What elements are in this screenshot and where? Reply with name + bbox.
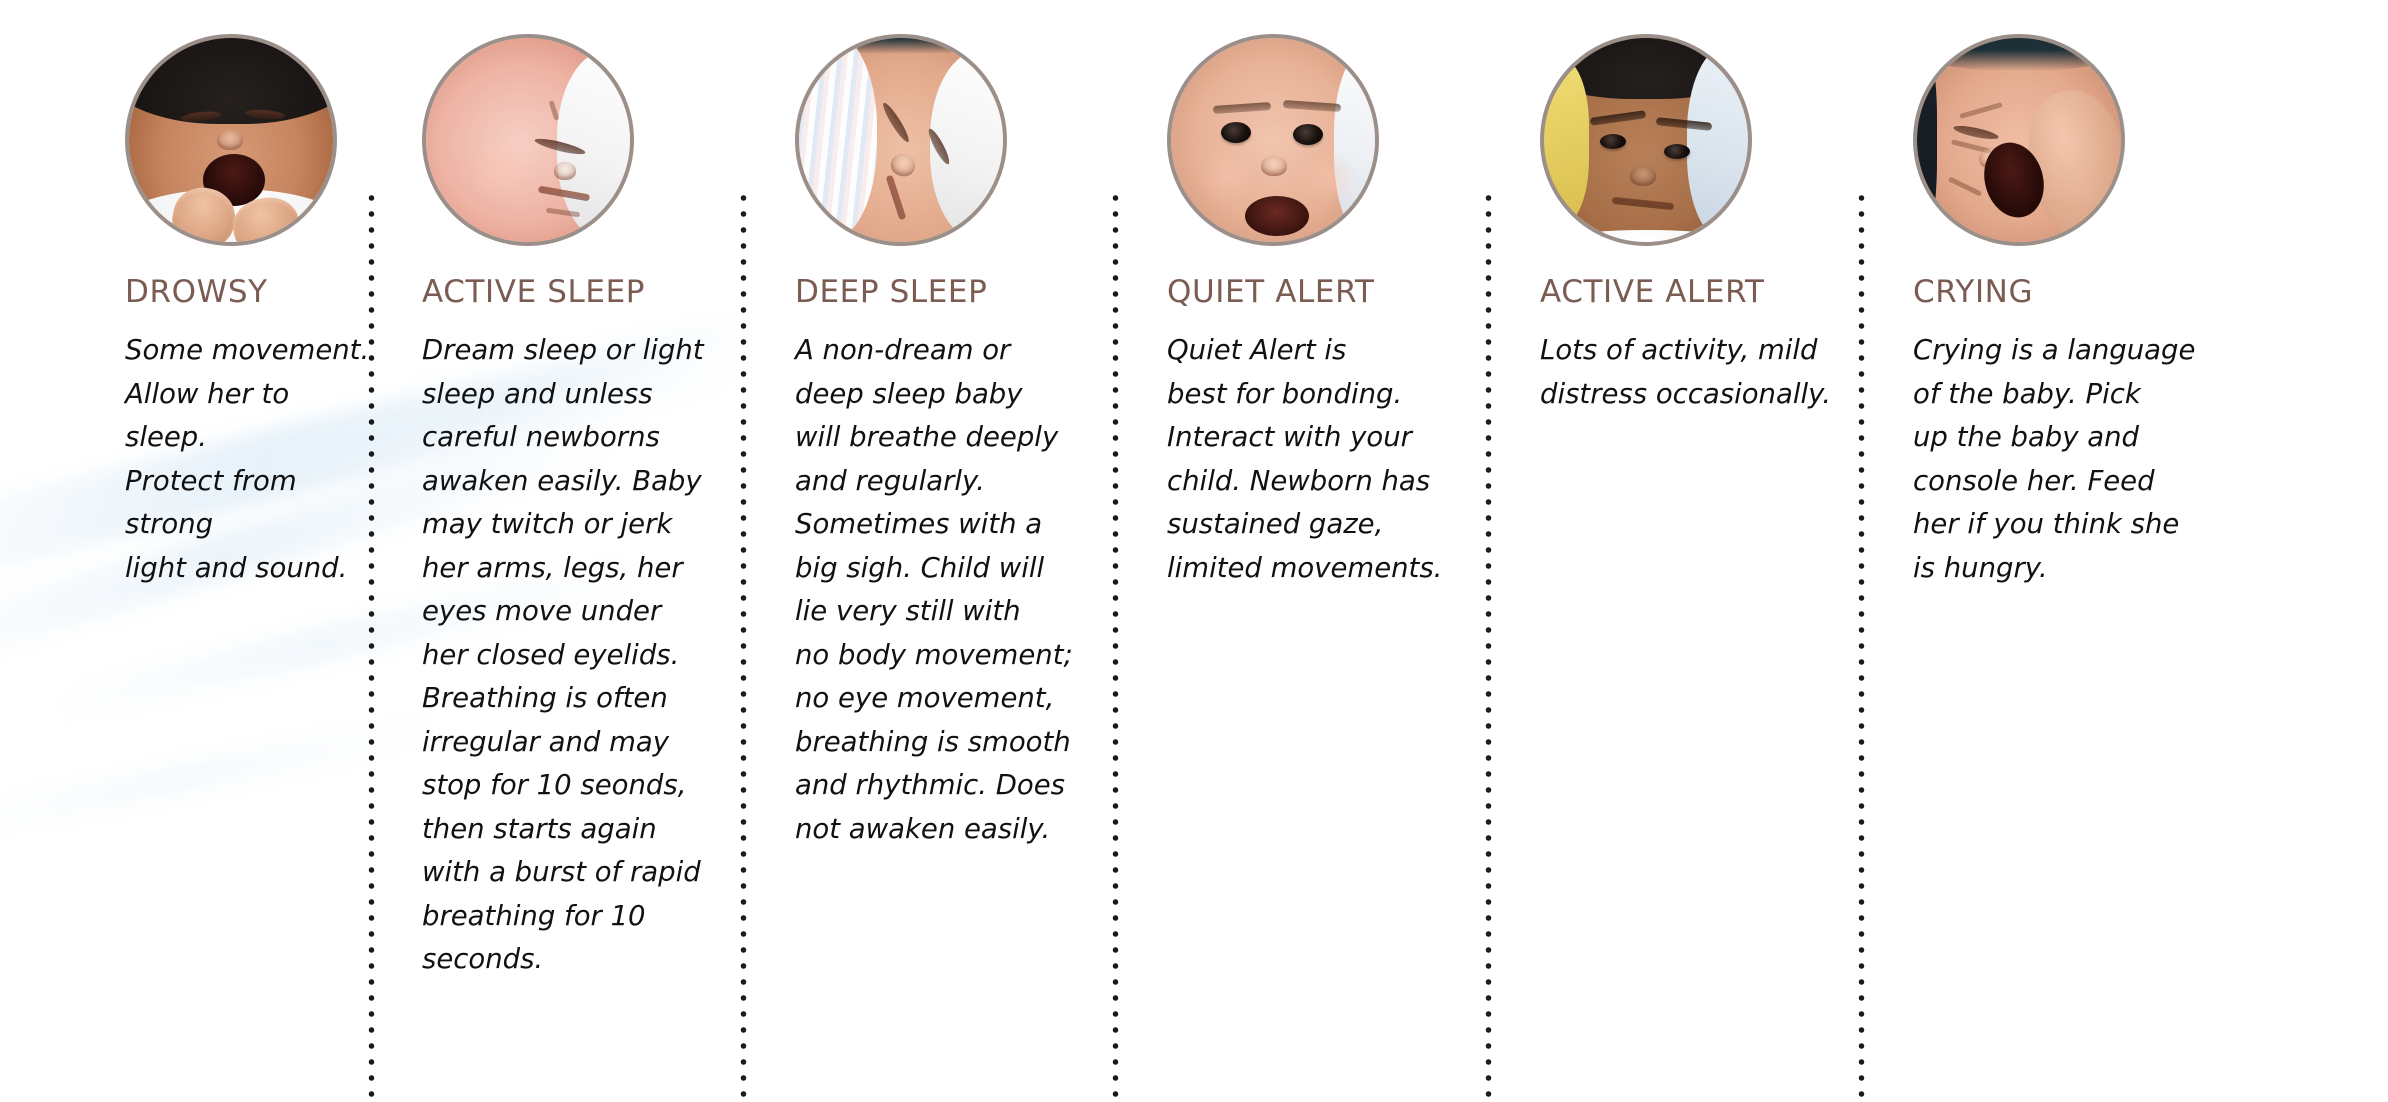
photo-wrap	[795, 34, 1119, 246]
state-heading: QUIET ALERT	[1167, 274, 1492, 310]
state-description: A non-dream or deep sleep baby will brea…	[795, 329, 1119, 851]
state-heading: ACTIVE ALERT	[1540, 274, 1865, 310]
state-description: Quiet Alert is best for bonding. Interac…	[1167, 329, 1492, 590]
state-heading: DROWSY	[125, 274, 375, 310]
column-divider	[368, 190, 375, 1102]
state-heading: DEEP SLEEP	[795, 274, 1119, 310]
state-columns: DROWSY Some movement. Allow her to sleep…	[0, 0, 2388, 1102]
photo-wrap	[422, 34, 747, 246]
state-column-active-sleep: ACTIVE SLEEP Dream sleep or light sleep …	[375, 0, 747, 1102]
active-sleep-newborn-photo	[422, 34, 634, 246]
drowsy-newborn-photo	[125, 34, 337, 246]
state-description: Dream sleep or light sleep and unless ca…	[422, 329, 747, 982]
column-divider	[740, 190, 747, 1102]
column-divider	[1485, 190, 1492, 1102]
photo-wrap	[125, 34, 375, 246]
state-column-quiet-alert: QUIET ALERT Quiet Alert is best for bond…	[1119, 0, 1492, 1102]
photo-wrap	[1540, 34, 1865, 246]
crying-newborn-photo	[1913, 34, 2125, 246]
state-heading: CRYING	[1913, 274, 2285, 310]
state-column-deep-sleep: DEEP SLEEP A non-dream or deep sleep bab…	[747, 0, 1119, 1102]
column-divider	[1858, 190, 1865, 1102]
active-alert-newborn-photo	[1540, 34, 1752, 246]
column-divider	[1112, 190, 1119, 1102]
state-column-active-alert: ACTIVE ALERT Lots of activity, mild dist…	[1492, 0, 1865, 1102]
state-description: Some movement. Allow her to sleep. Prote…	[125, 329, 375, 590]
deep-sleep-newborn-photo	[795, 34, 1007, 246]
photo-wrap	[1167, 34, 1492, 246]
quiet-alert-newborn-photo	[1167, 34, 1379, 246]
photo-wrap	[1913, 34, 2285, 246]
state-description: Crying is a language of the baby. Pick u…	[1913, 329, 2285, 590]
newborn-states-infographic: DROWSY Some movement. Allow her to sleep…	[0, 0, 2388, 1102]
state-description: Lots of activity, mild distress occasion…	[1540, 329, 1865, 416]
state-column-drowsy: DROWSY Some movement. Allow her to sleep…	[0, 0, 375, 1102]
state-heading: ACTIVE SLEEP	[422, 274, 747, 310]
state-column-crying: CRYING Crying is a language of the baby.…	[1865, 0, 2285, 1102]
